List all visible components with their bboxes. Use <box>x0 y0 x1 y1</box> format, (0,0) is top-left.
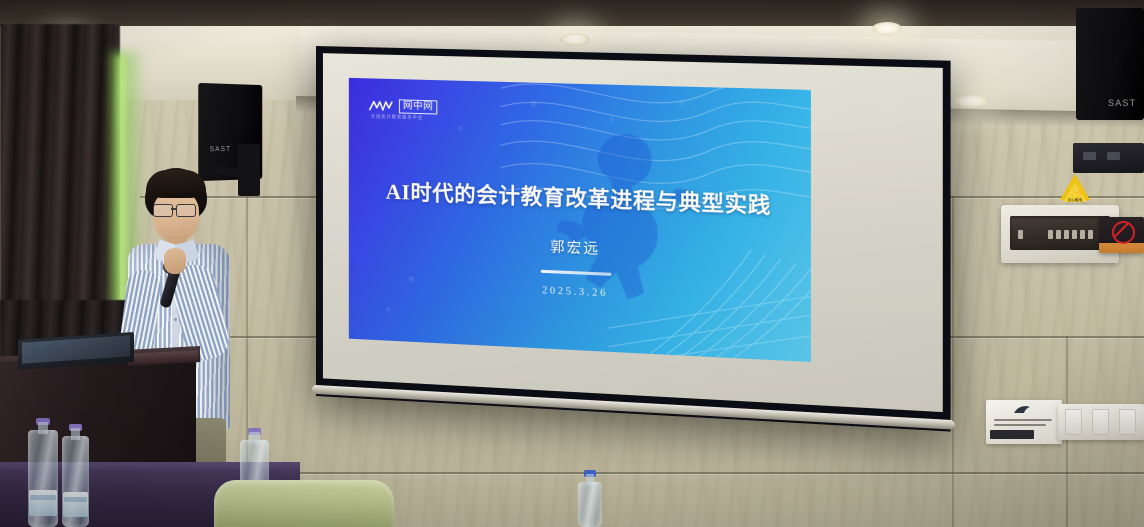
downlight-icon <box>872 22 902 35</box>
bottle-label-band <box>64 497 87 502</box>
eyeglasses-right-lens <box>176 204 196 217</box>
bottle-label-band <box>30 495 55 500</box>
logo-tagline: 全国会计教育服务平台 <box>371 114 423 122</box>
bottle-label <box>29 490 58 516</box>
breaker-switch[interactable] <box>1088 230 1093 239</box>
panel-window <box>1010 216 1110 250</box>
slide-author: 郭宏远 <box>349 228 811 268</box>
speaker-brand-label: SAST <box>210 146 231 153</box>
amplifier-unit <box>1073 143 1144 173</box>
slide-line-pattern <box>608 203 811 362</box>
water-bottle[interactable] <box>28 418 58 527</box>
bird-icon <box>1012 404 1034 416</box>
breaker-switch[interactable] <box>1056 230 1061 239</box>
light-switch-key[interactable] <box>1092 409 1109 435</box>
eyeglasses-left-lens <box>153 204 173 217</box>
slide-logo: 网中网 <box>369 98 438 114</box>
presenter-right-hand <box>164 248 186 274</box>
chair-backrest[interactable] <box>214 480 394 527</box>
presenter-hair-fringe <box>146 170 206 198</box>
right-loudspeaker: SAST <box>1076 8 1144 120</box>
water-bottle[interactable] <box>578 470 602 527</box>
placard-strip <box>990 430 1034 439</box>
no-smoking-icon <box>1112 221 1135 244</box>
bottle-body <box>578 482 602 527</box>
breaker-switch[interactable] <box>1080 230 1085 239</box>
eyeglasses-bridge <box>171 208 176 210</box>
slide-divider <box>541 270 612 276</box>
projected-slide: 网中网 全国会计教育服务平台 AI时代的会计教育改革进程与典型实践 郭宏远 20… <box>349 78 811 362</box>
lecture-room-photo: SAST SAST <box>0 0 1144 527</box>
downlight-icon <box>560 33 590 46</box>
logo-name: 网中网 <box>399 99 437 114</box>
breaker-switch[interactable] <box>1064 230 1069 239</box>
logo-wave-icon <box>369 99 395 112</box>
amp-indicator <box>1083 152 1096 160</box>
hazard-sign-label: 当心触电 <box>1060 198 1090 203</box>
amp-indicator <box>1107 152 1120 160</box>
placard-text-line <box>994 424 1046 426</box>
downlight-icon <box>954 94 988 108</box>
water-bottle[interactable] <box>62 424 89 527</box>
laptop-screen <box>22 335 130 364</box>
placard-text-line <box>994 419 1052 421</box>
projection-screen: 网中网 全国会计教育服务平台 AI时代的会计教育改革进程与典型实践 郭宏远 20… <box>316 46 951 432</box>
shirt-button <box>174 318 177 321</box>
screen-surface: 网中网 全国会计教育服务平台 AI时代的会计教育改革进程与典型实践 郭宏远 20… <box>323 53 943 412</box>
light-switch-key[interactable] <box>1065 409 1082 435</box>
lightning-bolt-icon: ⚡ <box>1072 186 1087 198</box>
light-switch-plate[interactable] <box>1058 404 1144 440</box>
speaker-brand-label: SAST <box>1108 98 1136 108</box>
slide-date: 2025.3.26 <box>349 276 811 308</box>
wall-grout-line <box>952 196 954 527</box>
bottle-label <box>63 492 89 517</box>
breaker-switch[interactable] <box>1048 230 1053 239</box>
light-switch-key[interactable] <box>1119 409 1136 435</box>
breaker-switch[interactable] <box>1072 230 1077 239</box>
breaker-switch[interactable] <box>1018 230 1023 239</box>
slide-title: AI时代的会计教育改革进程与典型实践 <box>349 174 811 222</box>
